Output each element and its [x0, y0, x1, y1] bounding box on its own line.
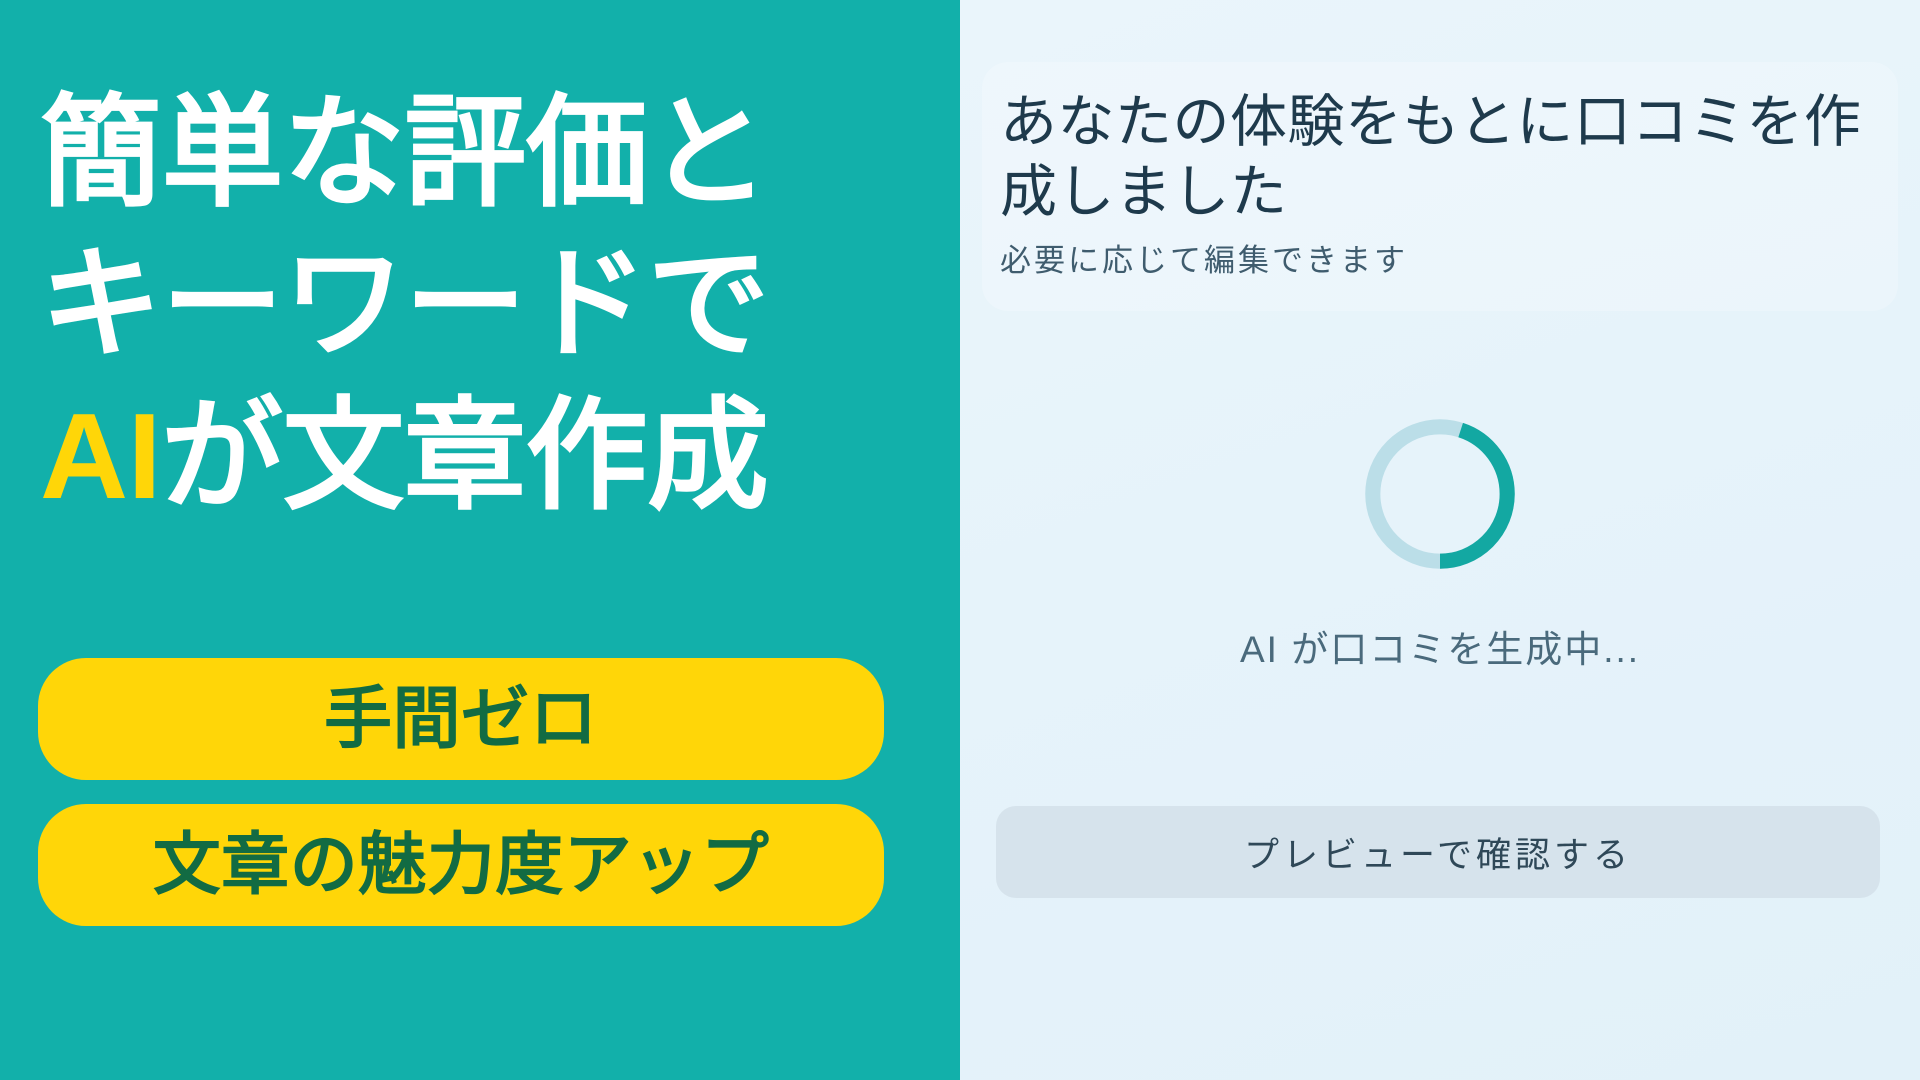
generation-status-block: AI が口コミを生成中...	[960, 410, 1920, 672]
preview-confirm-button[interactable]: プレビューで確認する	[996, 806, 1880, 898]
feature-badge-label: 文章の魅力度アップ	[153, 831, 770, 899]
headline-line-3-rest: が文章作成	[161, 388, 769, 524]
headline: 簡単な評価と キーワードで AIが文章作成	[40, 78, 940, 532]
feature-badge-list: 手間ゼロ 文章の魅力度アップ	[38, 658, 898, 926]
headline-accent-ai: AI	[40, 388, 161, 524]
headline-line-2: キーワードで	[40, 229, 940, 380]
loading-status-text: AI が口コミを生成中...	[1240, 628, 1640, 672]
preview-confirm-button-label: プレビューで確認する	[1244, 827, 1632, 878]
left-marketing-panel: 簡単な評価と キーワードで AIが文章作成 手間ゼロ 文章の魅力度アップ	[0, 0, 960, 1080]
feature-badge-label: 手間ゼロ	[324, 685, 598, 753]
page-subtitle: 必要に応じて編集できます	[1000, 241, 1880, 281]
headline-line-1: 簡単な評価と	[40, 78, 940, 229]
right-app-panel: あなたの体験をもとに口コミを作成しました 必要に応じて編集できます AI が口コ…	[960, 0, 1920, 1080]
feature-badge: 手間ゼロ	[38, 658, 884, 780]
loading-spinner-icon	[1356, 410, 1524, 578]
page-title: あなたの体験をもとに口コミを作成しました	[1000, 88, 1880, 227]
promo-screen: 簡単な評価と キーワードで AIが文章作成 手間ゼロ 文章の魅力度アップ あなた…	[0, 0, 1920, 1080]
feature-badge: 文章の魅力度アップ	[38, 804, 884, 926]
headline-line-3: AIが文章作成	[40, 381, 940, 532]
panel-header-card: あなたの体験をもとに口コミを作成しました 必要に応じて編集できます	[982, 62, 1898, 311]
